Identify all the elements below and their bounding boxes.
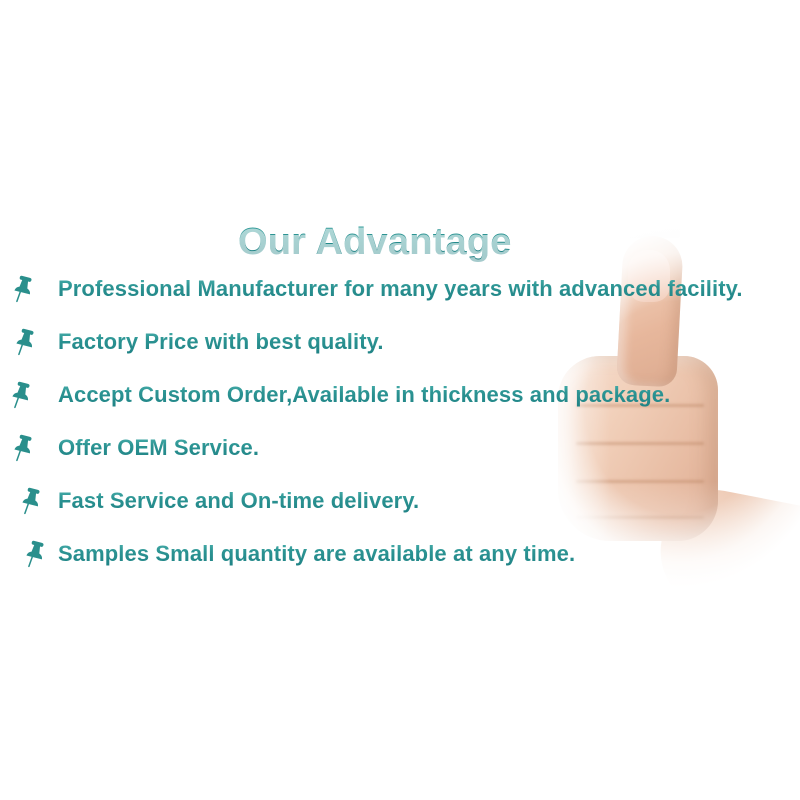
list-item-label: Factory Price with best quality. (58, 329, 384, 355)
list-item: Accept Custom Order,Available in thickne… (0, 368, 800, 421)
list-item: Factory Price with best quality. (0, 315, 800, 368)
list-item: Fast Service and On-time delivery. (0, 474, 800, 527)
list-item: Samples Small quantity are available at … (0, 527, 800, 580)
list-item-label: Accept Custom Order,Available in thickne… (58, 382, 670, 408)
page-title: Our Advantage (238, 221, 512, 264)
advantage-banner: Our Advantage Professional Manufacturer … (0, 0, 800, 800)
list-item-label: Professional Manufacturer for many years… (58, 276, 743, 302)
push-pin-icon (8, 326, 38, 358)
push-pin-icon (6, 273, 36, 305)
list-item-label: Fast Service and On-time delivery. (58, 488, 419, 514)
list-item-label: Samples Small quantity are available at … (58, 541, 575, 567)
list-item: Professional Manufacturer for many years… (0, 262, 800, 315)
list-item-label: Offer OEM Service. (58, 435, 259, 461)
push-pin-icon (6, 432, 36, 464)
advantage-list: Professional Manufacturer for many years… (0, 262, 800, 580)
push-pin-icon (14, 485, 44, 517)
list-item: Offer OEM Service. (0, 421, 800, 474)
push-pin-icon (4, 379, 34, 411)
push-pin-icon (18, 538, 48, 570)
